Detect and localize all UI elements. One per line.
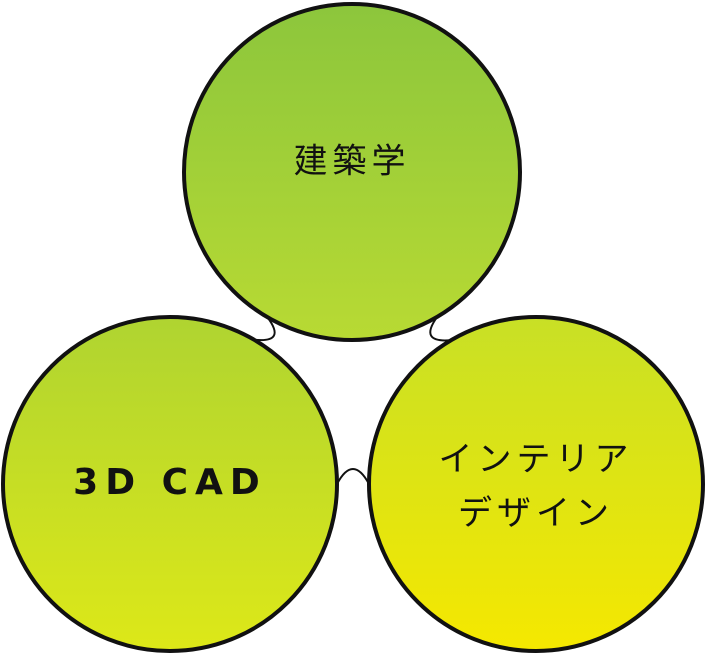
venn-circle-interior-design-label-line1: インテリア <box>439 440 634 480</box>
venn-circle-interior-design[interactable]: インテリア デザイン <box>369 317 703 651</box>
venn-circle-cad[interactable]: 3D CAD <box>3 317 337 651</box>
venn-circle-architecture-label: 建築学 <box>294 142 411 182</box>
venn-circle-architecture[interactable]: 建築学 <box>184 4 520 340</box>
connector-arc-bottom <box>337 469 369 484</box>
venn-circle-interior-design-label-line2: デザイン <box>458 494 614 534</box>
venn-diagram: 3D CAD インテリア デザイン 建築学 <box>0 0 707 655</box>
venn-circle-interior-design-shape[interactable] <box>369 317 703 651</box>
venn-diagram-canvas: 3D CAD インテリア デザイン 建築学 <box>0 0 707 655</box>
venn-circle-cad-label: 3D CAD <box>73 462 267 503</box>
